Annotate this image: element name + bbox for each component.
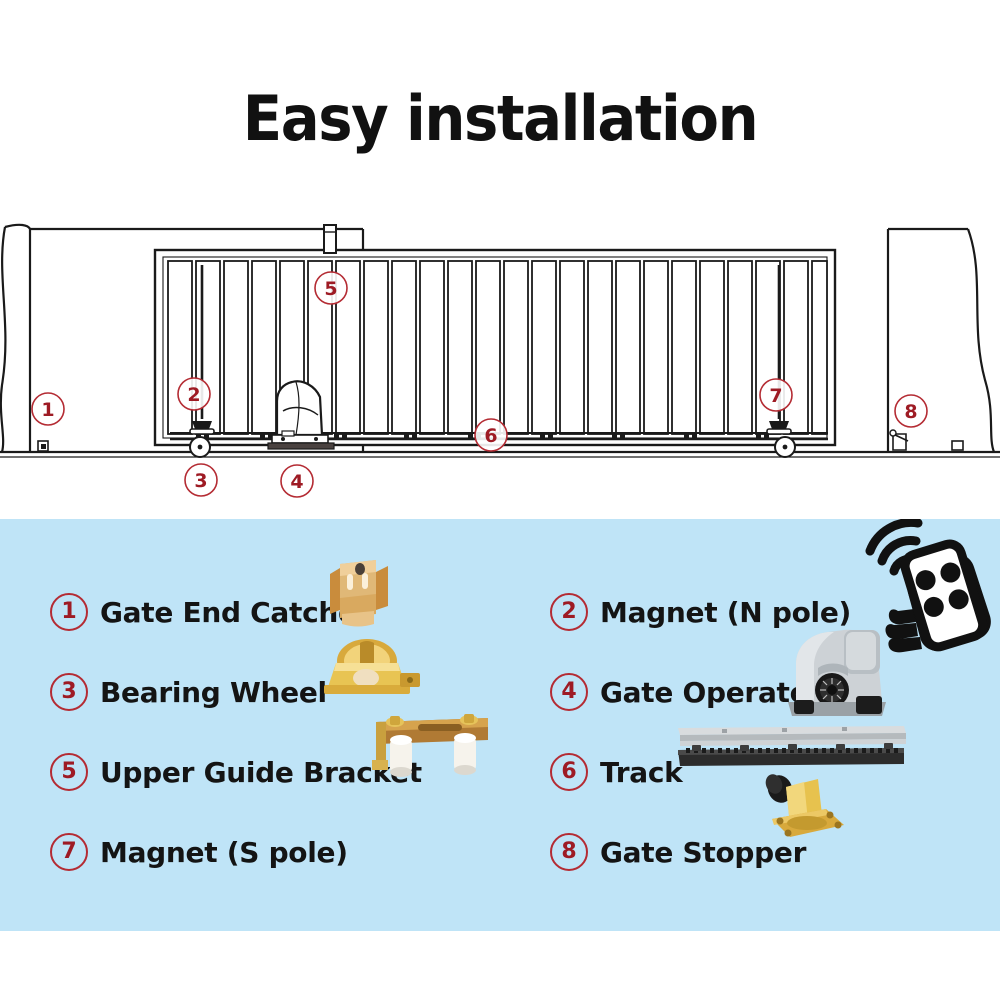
svg-text:3: 3 <box>194 470 207 492</box>
legend-number-badge: 4 <box>550 673 588 711</box>
legend-number-badge: 6 <box>550 753 588 791</box>
legend-item-label: Bearing Wheel <box>100 676 327 709</box>
diagram-callout-8: 8 <box>895 395 927 427</box>
list-item-track[interactable]: 6 Track <box>550 745 682 799</box>
diagram-callout-4: 4 <box>281 465 313 497</box>
diagram-callout-3: 3 <box>185 464 217 496</box>
list-item-upper-guide-bracket[interactable]: 5 Upper Guide Bracket <box>50 745 422 799</box>
svg-text:1: 1 <box>41 399 54 421</box>
diagram-callout-7: 7 <box>760 379 792 411</box>
legend-item-label: Magnet (S pole) <box>100 836 348 869</box>
legend-number-badge: 7 <box>50 833 88 871</box>
list-item-bearing-wheel[interactable]: 3 Bearing Wheel <box>50 665 327 719</box>
legend-number-badge: 3 <box>50 673 88 711</box>
diagram-callout-1: 1 <box>32 393 64 425</box>
upper-guide-bracket-photo <box>368 710 496 782</box>
installation-infographic: Easy installation <box>0 0 1000 1000</box>
track-photo <box>672 724 908 768</box>
parts-legend-panel: 1 Gate End Catcher 3 Bearing Wheel 5 Upp… <box>0 519 1000 931</box>
diagram-callout-5: 5 <box>315 272 347 304</box>
page-title: Easy installation <box>35 82 965 155</box>
legend-number-badge: 1 <box>50 593 88 631</box>
diagram-callout-2: 2 <box>178 378 210 410</box>
svg-text:5: 5 <box>324 278 337 300</box>
svg-text:6: 6 <box>484 425 497 447</box>
bearing-wheel-photo <box>320 635 426 709</box>
gate-end-catcher-photo <box>318 552 398 630</box>
svg-text:4: 4 <box>290 471 303 493</box>
gate-installation-diagram: 1 2 3 4 5 <box>0 205 1000 505</box>
legend-number-badge: 8 <box>550 833 588 871</box>
diagram-callout-6: 6 <box>475 419 507 451</box>
hand-holding-remote-icon <box>862 519 1000 654</box>
list-item-magnet-s-pole[interactable]: 7 Magnet (S pole) <box>50 825 348 879</box>
legend-number-badge: 5 <box>50 753 88 791</box>
svg-text:7: 7 <box>769 385 782 407</box>
legend-number-badge: 2 <box>550 593 588 631</box>
svg-text:2: 2 <box>187 384 200 406</box>
legend-item-label: Track <box>600 756 682 789</box>
svg-text:8: 8 <box>904 401 917 423</box>
gate-stopper-photo <box>752 773 852 851</box>
